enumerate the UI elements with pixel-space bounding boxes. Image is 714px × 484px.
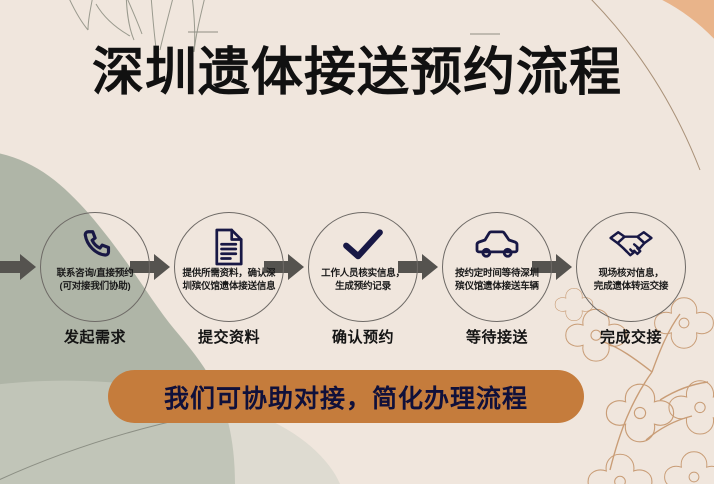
step-description: 联系咨询/直接预约 (可对接我们协助)	[38, 268, 152, 293]
process-flow: 联系咨询/直接预约 (可对接我们协助) 发起需求 提供所需资料，确认深	[0, 206, 714, 356]
poster-root: 深圳遗体接送预约流程 联系咨询/直接预约 (可对接我们协助) 发起需求	[0, 0, 714, 484]
step-label: 确认预约	[304, 326, 422, 347]
step-description: 提供所需资料，确认深 圳殡仪馆遗体接送信息	[172, 268, 286, 293]
step-label: 等待接送	[438, 326, 556, 347]
step-description: 工作人员核实信息， 生成预约记录	[306, 268, 420, 293]
flow-arrow	[0, 254, 36, 280]
document-icon	[170, 228, 288, 266]
car-icon	[438, 228, 556, 260]
flow-step-2[interactable]: 提供所需资料，确认深 圳殡仪馆遗体接送信息 提交资料	[170, 206, 288, 356]
step-description: 按约定时间等待深圳 殡仪馆遗体接送车辆	[440, 268, 554, 293]
phone-icon	[36, 228, 154, 264]
step-desc-line-2: 完成遗体转运交接	[594, 281, 668, 292]
cta-banner-text: 我们可协助对接，简化办理流程	[164, 379, 528, 415]
step-desc-line-1: 现场核对信息，	[598, 268, 663, 279]
step-label: 提交资料	[170, 326, 288, 347]
flow-step-4[interactable]: 按约定时间等待深圳 殡仪馆遗体接送车辆 等待接送	[438, 206, 556, 356]
step-desc-line-2: 圳殡仪馆遗体接送信息	[182, 281, 275, 292]
step-label: 完成交接	[572, 326, 690, 347]
step-label: 发起需求	[36, 326, 154, 347]
step-desc-line-2: 生成预约记录	[335, 281, 391, 292]
flow-step-5[interactable]: 现场核对信息， 完成遗体转运交接 完成交接	[572, 206, 690, 356]
checkmark-icon	[304, 228, 422, 262]
cta-banner[interactable]: 我们可协助对接，简化办理流程	[108, 370, 584, 423]
flow-step-1[interactable]: 联系咨询/直接预约 (可对接我们协助) 发起需求	[36, 206, 154, 356]
step-description: 现场核对信息， 完成遗体转运交接	[574, 268, 688, 293]
step-desc-line-2: (可对接我们协助)	[59, 281, 130, 292]
step-desc-line-1: 联系咨询/直接预约	[57, 268, 134, 279]
page-title: 深圳遗体接送预约流程	[0, 44, 714, 104]
flow-step-3[interactable]: 工作人员核实信息， 生成预约记录 确认预约	[304, 206, 422, 356]
handshake-icon	[572, 228, 690, 262]
step-desc-line-1: 提供所需资料，确认深	[182, 268, 275, 279]
step-desc-line-2: 殡仪馆遗体接送车辆	[455, 281, 539, 292]
step-desc-line-1: 工作人员核实信息，	[321, 268, 405, 279]
step-desc-line-1: 按约定时间等待深圳	[455, 268, 539, 279]
